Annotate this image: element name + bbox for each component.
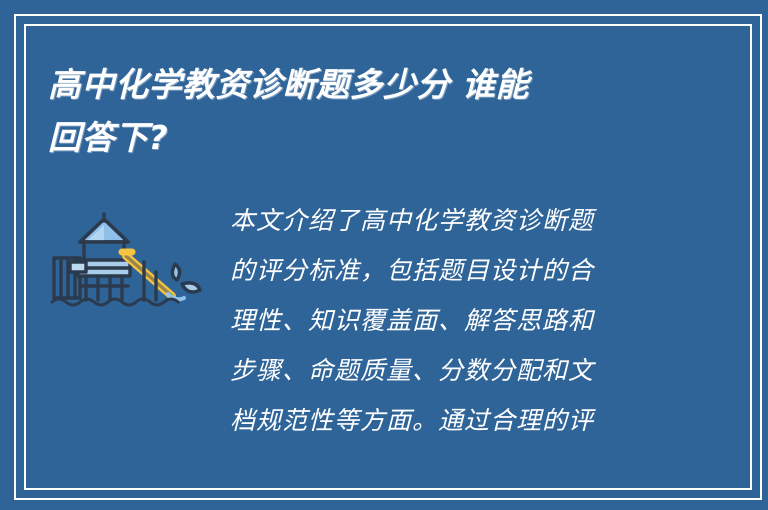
summary-line-4: 步骤、命题质量、分数分配和文 bbox=[230, 346, 594, 396]
summary-line-5: 档规范性等方面。通过合理的评 bbox=[230, 396, 594, 446]
article-summary-text: 本文介绍了高中化学教资诊断题 的评分标准，包括题目设计的合 理性、知识覆盖面、解… bbox=[230, 196, 594, 446]
summary-line-2: 的评分标准，包括题目设计的合 bbox=[230, 246, 594, 296]
content-row: 本文介绍了高中化学教资诊断题 的评分标准，包括题目设计的合 理性、知识覆盖面、解… bbox=[48, 196, 708, 446]
playground-water-slide-svg bbox=[48, 202, 208, 312]
article-cover-card: 高中化学教资诊断题多少分 谁能 回答下? bbox=[0, 0, 768, 510]
summary-line-1: 本文介绍了高中化学教资诊断题 bbox=[230, 196, 594, 246]
summary-line-3: 理性、知识覆盖面、解答思路和 bbox=[230, 296, 594, 346]
page-title: 高中化学教资诊断题多少分 谁能 回答下? bbox=[48, 58, 688, 164]
title-line-1: 高中化学教资诊断题多少分 谁能 bbox=[48, 58, 688, 111]
playground-water-slide-icon bbox=[48, 196, 208, 317]
title-line-2: 回答下? bbox=[48, 111, 688, 164]
